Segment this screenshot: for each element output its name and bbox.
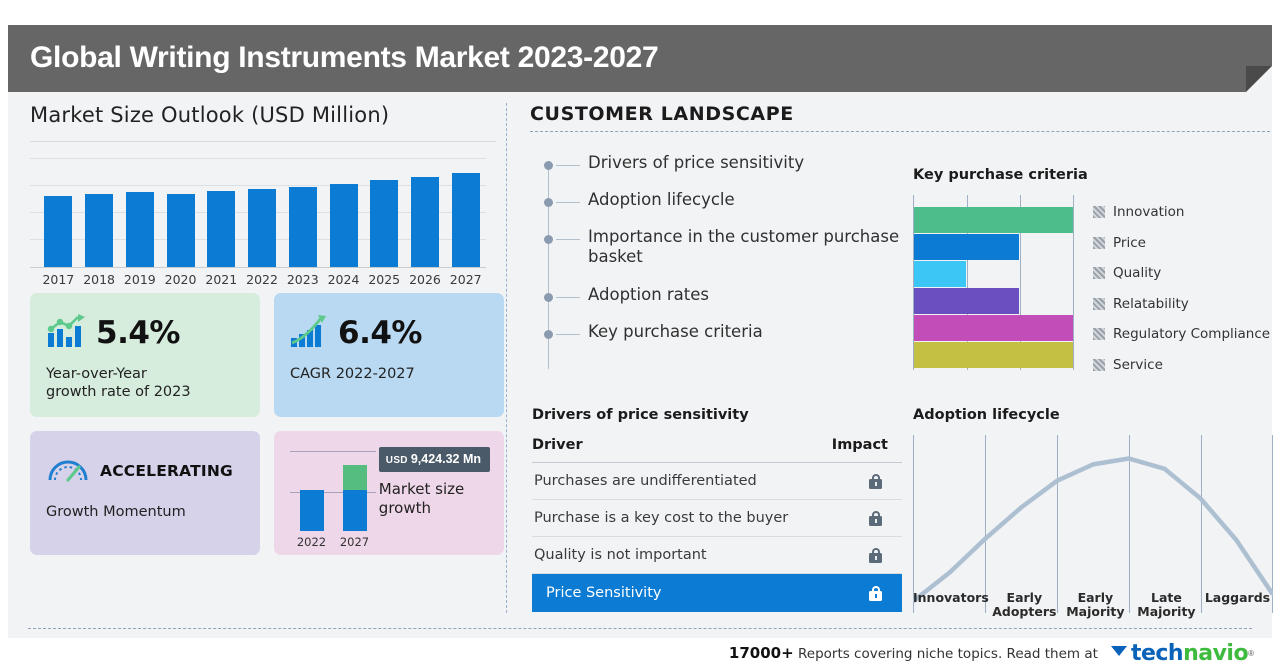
bullet-connector [556,239,580,240]
bar [207,191,235,267]
x-axis-tick: 2024 [323,272,364,287]
corner-fold-decoration [1246,66,1272,92]
lock-icon [869,586,882,601]
poster-footer: 17000+ Reports covering niche topics. Re… [8,636,1272,670]
kpc-legend-label: Price [1113,235,1146,251]
kpc-legend-label: Quality [1113,265,1161,281]
legend-swatch-icon [1093,298,1105,310]
x-axis-tick: 2020 [160,272,201,287]
impact-cell [832,574,902,613]
drivers-title: Drivers of price sensitivity [532,407,902,423]
bullet-dot-icon [544,235,553,244]
stat-cards: 5.4% Year-over-Yeargrowth rate of 2023 [30,293,504,555]
kpc-bar [914,207,1073,233]
mini-x-axis-tick: 2022 [290,535,333,549]
legend-swatch-icon [1093,237,1105,249]
column-header-impact: Impact [832,437,902,463]
lifecycle-stage-label: EarlyAdopters [989,591,1060,621]
section-title-customer-landscape: CUSTOMER LANDSCAPE [530,103,1270,125]
bar [248,189,276,267]
table-header-row: Driver Impact [532,437,902,463]
driver-cell: Price Sensitivity [532,574,832,613]
drivers-table: Driver Impact Purchases are undifferenti… [532,437,902,612]
kpc-legend-item: Relatability [1093,289,1270,320]
kpc-legend-label: Regulatory Compliance [1113,326,1270,342]
x-axis-tick: 2019 [119,272,160,287]
bar-column [79,158,120,267]
brand-name-first: tech [1131,641,1183,666]
table-row[interactable]: Quality is not important [532,537,902,574]
bar [330,184,358,267]
market-size-badge: USD9,424.32 Mn [379,447,490,472]
customer-landscape-topics: Drivers of price sensitivityAdoption lif… [542,153,902,359]
card-value-yoy: 5.4% [96,315,180,351]
poster-header: Global Writing Instruments Market 2023-2… [8,25,1272,92]
kpc-legend-label: Innovation [1113,204,1184,220]
kpc-legend-label: Relatability [1113,296,1189,312]
lock-icon [869,511,882,526]
column-header-driver: Driver [532,437,832,463]
lock-icon [869,474,882,489]
kpc-bar-row [914,315,1074,341]
bar-series [38,158,486,267]
bar [452,173,480,267]
kpc-legend-item: Innovation [1093,197,1270,228]
x-axis-tick: 2027 [445,272,486,287]
x-axis-tick: 2022 [242,272,283,287]
bullet-dot-icon [544,330,553,339]
bar [411,177,439,267]
driver-cell: Quality is not important [532,537,832,574]
bar [85,194,113,267]
mini-bar-column [290,455,333,531]
trending-up-icon [290,313,330,354]
bar-column [201,158,242,267]
impact-cell [832,537,902,574]
lifecycle-stage-label: Laggards [1202,591,1273,621]
lifecycle-stage-label: EarlyMajority [1060,591,1131,621]
impact-cell [832,500,902,537]
legend-swatch-icon [1093,267,1105,279]
bar [44,196,72,267]
landscape-topic-item[interactable]: Key purchase criteria [542,322,902,342]
card-value-momentum: ACCELERATING [100,462,233,480]
footer-divider [28,628,1252,629]
landscape-topic-label: Adoption rates [588,285,709,304]
brand-name-second: navio [1183,641,1248,666]
bar [126,192,154,267]
driver-cell: Purchase is a key cost to the buyer [532,500,832,537]
kpc-legend-item: Quality [1093,258,1270,289]
card-caption-cagr: CAGR 2022-2027 [290,365,490,383]
badge-value: 9,424.32 Mn [411,452,481,466]
page-title: Global Writing Instruments Market 2023-2… [30,41,658,75]
bar [289,187,317,267]
lifecycle-chart: InnovatorsEarlyAdoptersEarlyMajorityLate… [913,435,1273,620]
kpc-legend-item: Price [1093,228,1270,259]
section-title-market-size: Market Size Outlook (USD Million) [30,103,500,127]
lifecycle-stage-label: Innovators [913,591,989,621]
footer-tagline: Reports covering niche topics. Read them… [798,646,1098,662]
landscape-topic-item[interactable]: Importance in the customer purchase bask… [542,227,902,267]
key-purchase-criteria-block: Key purchase criteria InnovationPriceQua… [913,167,1278,380]
kpc-legend-label: Service [1113,357,1163,373]
bullet-connector [556,297,580,298]
kpc-legend-item: Regulatory Compliance [1093,319,1270,350]
bar-column [160,158,201,267]
customer-landscape-rule [530,131,1270,132]
x-axis-tick: 2017 [38,272,79,287]
x-axis-tick: 2018 [79,272,120,287]
badge-currency: USD [386,455,408,466]
card-value-cagr: 6.4% [338,315,422,351]
bar-chart-x-axis: 2017201820192020202120222023202420252026… [38,272,486,287]
bar-column [282,158,323,267]
bar-column [445,158,486,267]
x-axis-tick: 2025 [364,272,405,287]
bar-column [323,158,364,267]
table-row[interactable]: Price Sensitivity [532,574,902,613]
column-divider [506,103,507,613]
kpc-bar-row [914,288,1074,314]
market-growth-mini-chart: 20222027 [290,445,369,549]
bullet-connector [556,334,580,335]
technavio-logo[interactable]: technavio® [1110,641,1254,666]
drivers-block: Drivers of price sensitivity Driver Impa… [532,407,902,612]
lock-icon [869,548,882,563]
brand-trademark: ® [1248,649,1254,658]
mini-bar-column [333,455,376,531]
bar-column [405,158,446,267]
adoption-lifecycle-block: Adoption lifecycle InnovatorsEarlyAdopte… [913,407,1278,620]
bullet-dot-icon [544,198,553,207]
kpc-title: Key purchase criteria [913,167,1278,183]
bar [370,180,398,267]
kpc-bar [914,315,1073,341]
kpc-bar [914,261,966,287]
legend-swatch-icon [1093,206,1105,218]
x-axis-tick: 2026 [405,272,446,287]
bar [167,194,195,267]
bullet-dot-icon [544,293,553,302]
bar-chart-up-icon [46,313,88,354]
kpc-legend-item: Service [1093,350,1270,381]
landscape-topic-item[interactable]: Adoption lifecycle [542,190,902,210]
report-count: 17000+ [729,644,794,662]
card-yoy-growth[interactable]: 5.4% Year-over-Yeargrowth rate of 2023 [30,293,260,417]
card-cagr[interactable]: 6.4% CAGR 2022-2027 [274,293,504,417]
kpc-chart [913,195,1075,370]
kpc-legend: InnovationPriceQualityRelatabilityRegula… [1093,195,1270,380]
driver-cell: Purchases are undifferentiated [532,463,832,500]
mini-bar-base-segment [343,490,367,531]
bar-column [38,158,79,267]
infographic-poster: Global Writing Instruments Market 2023-2… [0,0,1280,670]
bullet-dot-icon [544,161,553,170]
legend-swatch-icon [1093,359,1105,371]
card-growth-momentum[interactable]: ACCELERATING Growth Momentum [30,431,260,555]
landscape-topic-label: Key purchase criteria [588,322,763,341]
card-market-size-growth[interactable]: 20222027 USD9,424.32 Mn Market sizegrowt… [274,431,504,555]
technavio-mark-icon [1110,642,1128,665]
kpc-bar-row [914,342,1074,368]
bar-column [364,158,405,267]
legend-swatch-icon [1093,328,1105,340]
landscape-topic-label: Importance in the customer purchase bask… [588,227,899,266]
mini-x-axis-tick: 2027 [333,535,376,549]
section-rule [30,141,496,142]
bullet-connector [556,165,580,166]
landscape-topic-item[interactable]: Drivers of price sensitivity [542,153,902,173]
kpc-bar-row [914,261,1074,287]
bar-column [119,158,160,267]
table-row[interactable]: Purchases are undifferentiated [532,463,902,500]
kpc-bar [914,288,1019,314]
x-axis-tick: 2021 [201,272,242,287]
footer-text: 17000+ Reports covering niche topics. Re… [729,644,1098,662]
landscape-topic-item[interactable]: Adoption rates [542,285,902,305]
card-caption-market-growth: Market sizegrowth [379,480,490,518]
poster-canvas: Global Writing Instruments Market 2023-2… [8,25,1272,638]
landscape-topic-label: Drivers of price sensitivity [588,153,804,172]
table-row[interactable]: Purchase is a key cost to the buyer [532,500,902,537]
bar-column [242,158,283,267]
lifecycle-title: Adoption lifecycle [913,407,1278,423]
market-size-bar-chart [30,158,496,268]
landscape-topic-label: Adoption lifecycle [588,190,735,209]
kpc-bar-row [914,207,1074,233]
kpc-bar-row [914,234,1074,260]
speedometer-icon [46,452,92,491]
lifecycle-stage-label: LateMajority [1131,591,1202,621]
customer-landscape-section: CUSTOMER LANDSCAPE [530,103,1270,132]
mini-bar-base-segment [300,490,324,531]
impact-cell [832,463,902,500]
kpc-bar [914,342,1073,368]
market-size-section: Market Size Outlook (USD Million) 201720… [30,103,500,319]
x-axis-tick: 2023 [282,272,323,287]
lifecycle-curve [913,435,1273,613]
card-caption-yoy: Year-over-Yeargrowth rate of 2023 [46,365,246,401]
bullet-connector [556,202,580,203]
card-caption-momentum: Growth Momentum [46,503,246,521]
kpc-bar [914,234,1019,260]
mini-bar-growth-segment [343,465,367,490]
